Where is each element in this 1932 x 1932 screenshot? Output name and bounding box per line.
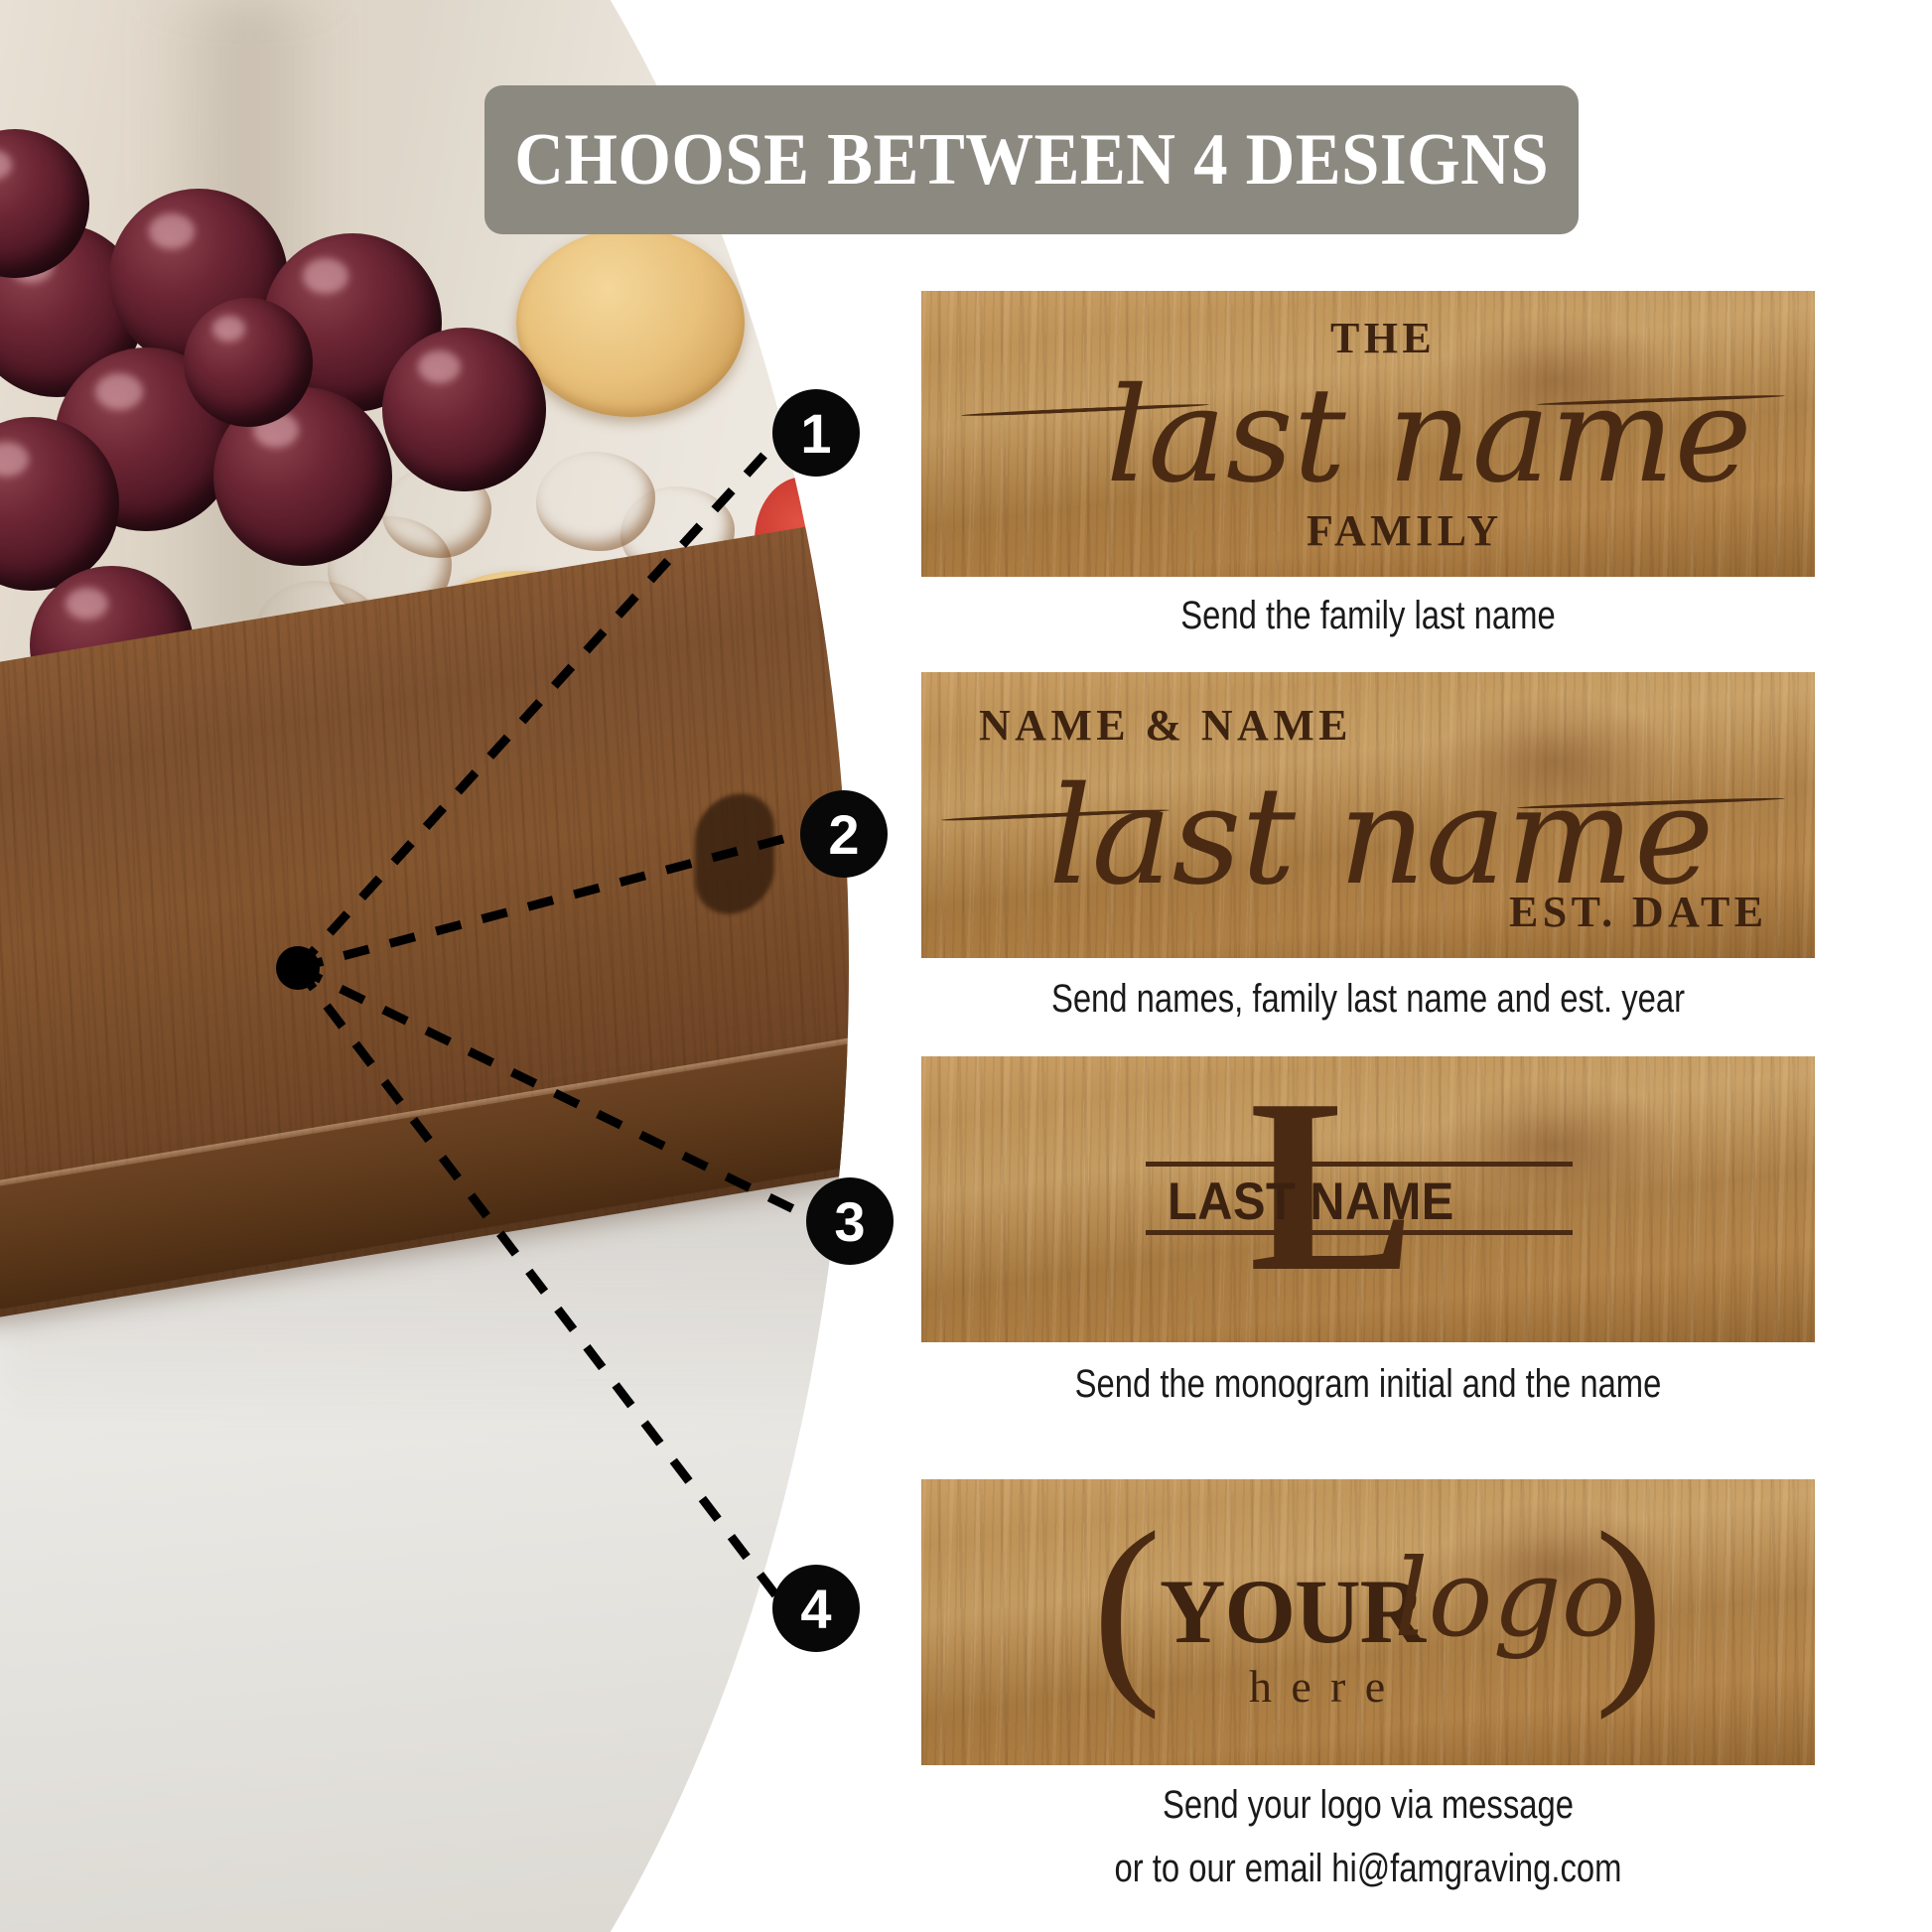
design-2-top-text: NAME & NAME xyxy=(979,700,1352,751)
design-4-your-text: YOUR xyxy=(1160,1559,1425,1664)
design-1-caption: Send the family last name xyxy=(1002,594,1734,638)
header-banner: CHOOSE BETWEEN 4 DESIGNS xyxy=(484,85,1579,234)
design-badge-3[interactable]: 3 xyxy=(806,1177,894,1265)
design-2-caption: Send names, family last name and est. ye… xyxy=(961,977,1775,1022)
design-badge-1[interactable]: 1 xyxy=(772,389,860,477)
grape-icon xyxy=(184,298,313,427)
design-badge-3-label: 3 xyxy=(834,1189,865,1254)
design-4-open-paren: ( xyxy=(1092,1501,1162,1710)
cracker-icon xyxy=(516,228,745,417)
design-3-split-text: LAST NAME xyxy=(1168,1172,1454,1232)
design-4-caption-line2: or to our email hi@famgraving.com xyxy=(961,1847,1775,1891)
design-1-top-text: THE xyxy=(1330,313,1436,363)
design-badge-2[interactable]: 2 xyxy=(800,790,888,878)
grape-icon xyxy=(382,328,546,491)
design-1-bottom-text: FAMILY xyxy=(1307,505,1503,556)
product-photo xyxy=(0,0,894,1932)
design-badge-2-label: 2 xyxy=(828,802,859,867)
design-card-3[interactable]: L LAST NAME xyxy=(921,1056,1815,1342)
design-3-caption: Send the monogram initial and the name xyxy=(961,1362,1775,1407)
design-4-close-paren: ) xyxy=(1594,1501,1664,1710)
design-4-here-text: here xyxy=(1249,1660,1404,1713)
design-2-bottom-text: EST. DATE xyxy=(1509,887,1767,937)
design-badge-1-label: 1 xyxy=(800,401,831,466)
design-1-script-text: last name xyxy=(1106,364,1752,508)
design-badge-4-label: 4 xyxy=(800,1577,831,1641)
design-3-split-bar-top xyxy=(1146,1162,1573,1167)
design-card-2[interactable]: NAME & NAME last name EST. DATE xyxy=(921,672,1815,958)
page-title: CHOOSE BETWEEN 4 DESIGNS xyxy=(514,118,1549,203)
design-4-logo-script: logo xyxy=(1394,1537,1626,1661)
design-card-4[interactable]: ( YOUR logo here ) xyxy=(921,1479,1815,1765)
design-badge-4[interactable]: 4 xyxy=(772,1565,860,1652)
design-4-caption-line1: Send your logo via message xyxy=(1002,1783,1734,1828)
design-card-1[interactable]: THE last name FAMILY xyxy=(921,291,1815,577)
